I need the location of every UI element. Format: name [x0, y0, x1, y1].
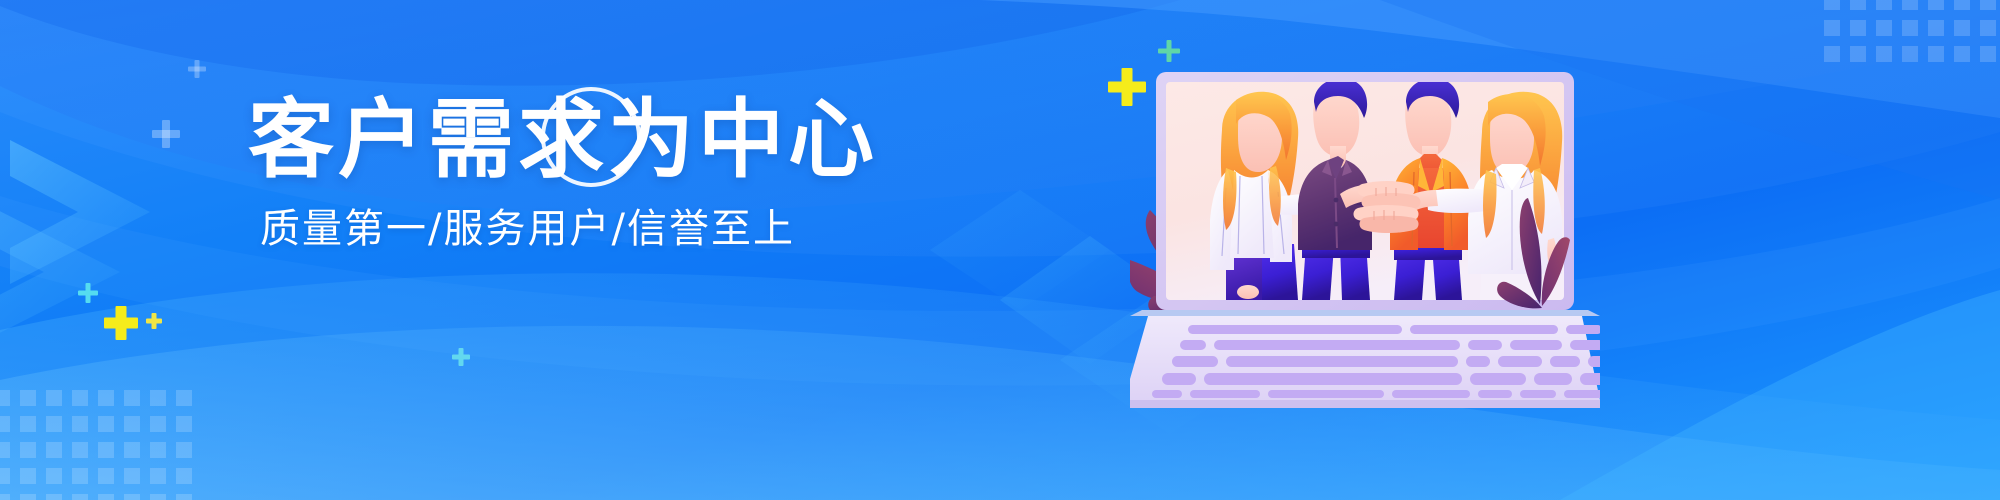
grid-dot	[150, 494, 166, 500]
grid-dot	[1902, 0, 1918, 10]
grid-dot	[176, 442, 192, 458]
grid-dot	[98, 494, 114, 500]
grid-dot	[98, 468, 114, 484]
grid-dot	[124, 468, 140, 484]
grid-dot	[20, 416, 36, 432]
grid-dot	[1928, 46, 1944, 62]
grid-dot	[20, 390, 36, 406]
stacked-hands	[1354, 181, 1421, 233]
grid-dot	[1850, 20, 1866, 36]
plus-mark-cyan-lowleft	[452, 348, 470, 366]
grid-dot	[72, 442, 88, 458]
grid-dot	[1954, 0, 1970, 10]
grid-dot	[72, 494, 88, 500]
grid-dot	[124, 442, 140, 458]
grid-dot	[0, 468, 10, 484]
grid-dot	[1954, 46, 1970, 62]
grid-dot	[20, 468, 36, 484]
grid-dot	[1980, 46, 1996, 62]
grid-dot	[1954, 20, 1970, 36]
grid-dot	[98, 442, 114, 458]
banner-subtitle: 质量第一/服务用户/信誉至上	[260, 207, 868, 251]
grid-dot	[1980, 0, 1996, 10]
grid-dot	[46, 416, 62, 432]
grid-dot	[1824, 46, 1840, 62]
banner-text-block: 客户需求为中心 质量第一/服务用户/信誉至上	[248, 96, 868, 251]
plus-mark-cyan-bottom	[78, 283, 98, 303]
plus-mark-cyan-mid	[152, 120, 180, 148]
laptop-with-team-joining-hands	[1130, 48, 1600, 448]
grid-dot	[0, 442, 10, 458]
grid-dot	[1928, 0, 1944, 10]
dot-grid-top-right	[1824, 0, 1996, 62]
grid-dot	[150, 390, 166, 406]
plus-mark-white-top	[188, 60, 206, 78]
grid-dot	[176, 468, 192, 484]
grid-dot	[1824, 20, 1840, 36]
grid-dot	[124, 416, 140, 432]
grid-dot	[98, 416, 114, 432]
grid-dot	[72, 416, 88, 432]
grid-dot	[0, 416, 10, 432]
grid-dot	[1902, 20, 1918, 36]
page-title: 客户需求为中心	[248, 96, 868, 185]
grid-dot	[20, 494, 36, 500]
grid-dot	[1902, 46, 1918, 62]
grid-dot	[176, 494, 192, 500]
plus-mark-yellow-bottom	[104, 306, 138, 340]
grid-dot	[46, 390, 62, 406]
laptop-hinge	[1130, 310, 1600, 316]
dot-grid-bottom-left	[0, 390, 192, 500]
grid-dot	[1928, 20, 1944, 36]
grid-dot	[1850, 0, 1866, 10]
grid-dot	[72, 468, 88, 484]
grid-dot	[1876, 0, 1892, 10]
grid-dot	[1980, 20, 1996, 36]
grid-dot	[0, 390, 10, 406]
grid-dot	[150, 468, 166, 484]
grid-dot	[46, 468, 62, 484]
grid-dot	[20, 442, 36, 458]
grid-dot	[150, 442, 166, 458]
grid-dot	[98, 390, 114, 406]
promotional-banner: 客户需求为中心 质量第一/服务用户/信誉至上	[0, 0, 2000, 500]
grid-dot	[1876, 46, 1892, 62]
grid-dot	[1876, 20, 1892, 36]
grid-dot	[176, 416, 192, 432]
grid-dot	[72, 390, 88, 406]
grid-dot	[46, 494, 62, 500]
grid-dot	[176, 390, 192, 406]
grid-dot	[1850, 46, 1866, 62]
plus-mark-yellow-tiny	[146, 313, 162, 329]
grid-dot	[1824, 0, 1840, 10]
grid-dot	[150, 416, 166, 432]
grid-dot	[124, 390, 140, 406]
grid-dot	[46, 442, 62, 458]
grid-dot	[124, 494, 140, 500]
grid-dot	[0, 494, 10, 500]
